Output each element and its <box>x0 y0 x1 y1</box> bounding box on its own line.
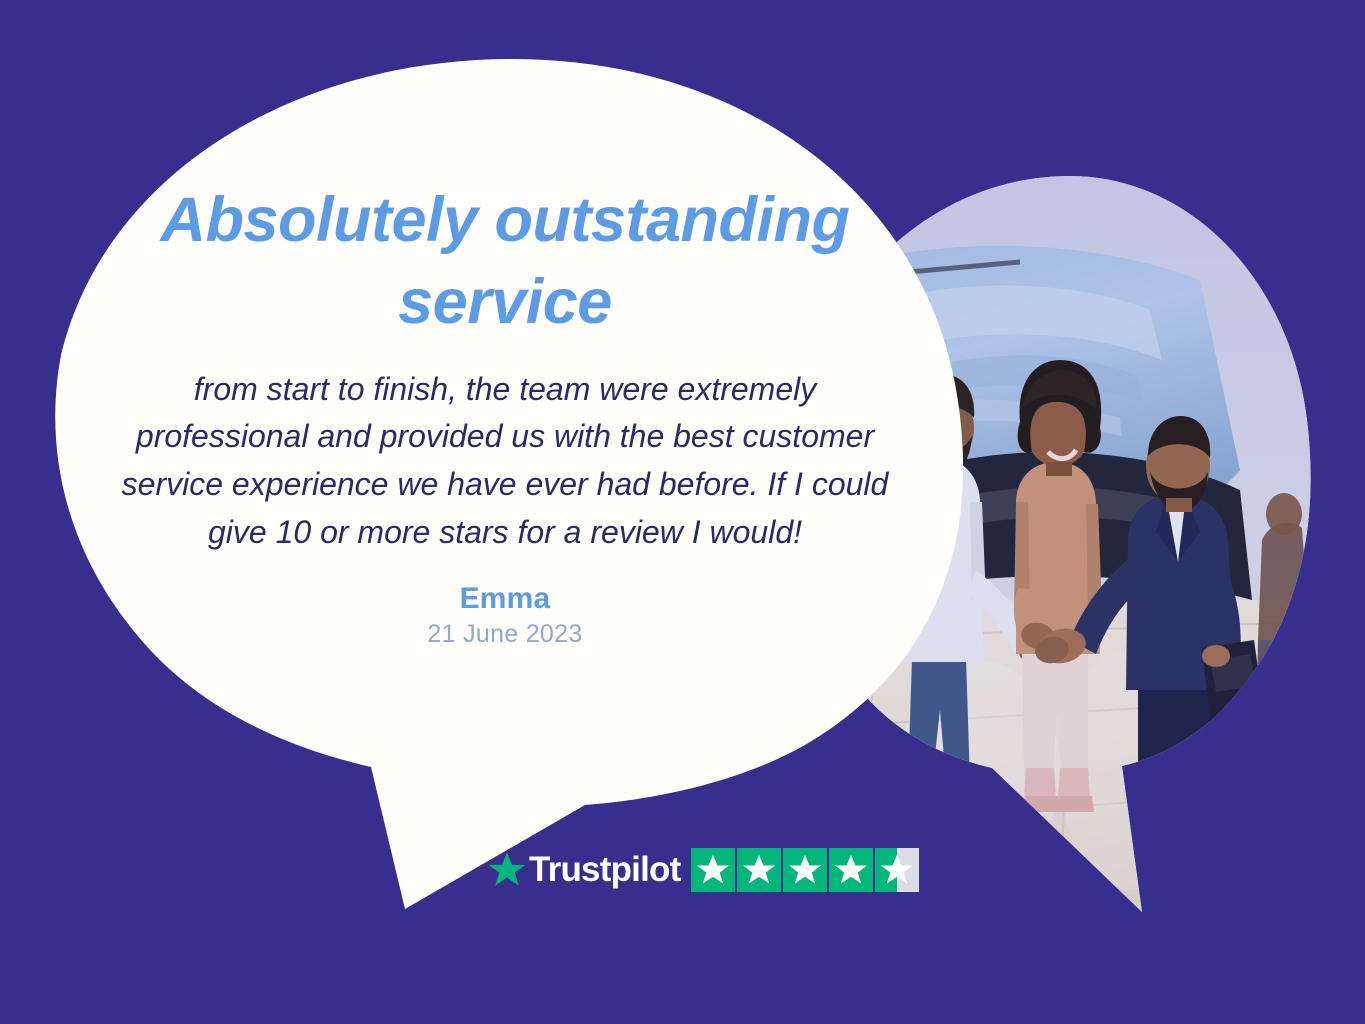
trustpilot-wordmark: Trustpilot <box>529 852 680 887</box>
quote-date: 21 June 2023 <box>90 620 920 649</box>
quote-body-text: from start to finish, the team were extr… <box>90 366 920 557</box>
star-3-full[interactable] <box>783 848 827 892</box>
quote-author-name: Emma <box>90 582 920 616</box>
trustpilot-star-row[interactable] <box>691 848 919 892</box>
trustpilot-rating[interactable]: Trustpilot <box>487 848 919 892</box>
quote-heading: Absolutely outstanding service <box>90 180 920 344</box>
star-5-half[interactable] <box>875 848 919 892</box>
star-4-full[interactable] <box>829 848 873 892</box>
star-1-full[interactable] <box>691 848 735 892</box>
trustpilot-star-icon <box>487 850 527 890</box>
quote-content: Absolutely outstanding service from star… <box>90 180 920 649</box>
trustpilot-logo[interactable]: Trustpilot <box>487 850 680 890</box>
star-2-full[interactable] <box>737 848 781 892</box>
review-testimonial-graphic: Absolutely outstanding service from star… <box>0 0 1365 1024</box>
